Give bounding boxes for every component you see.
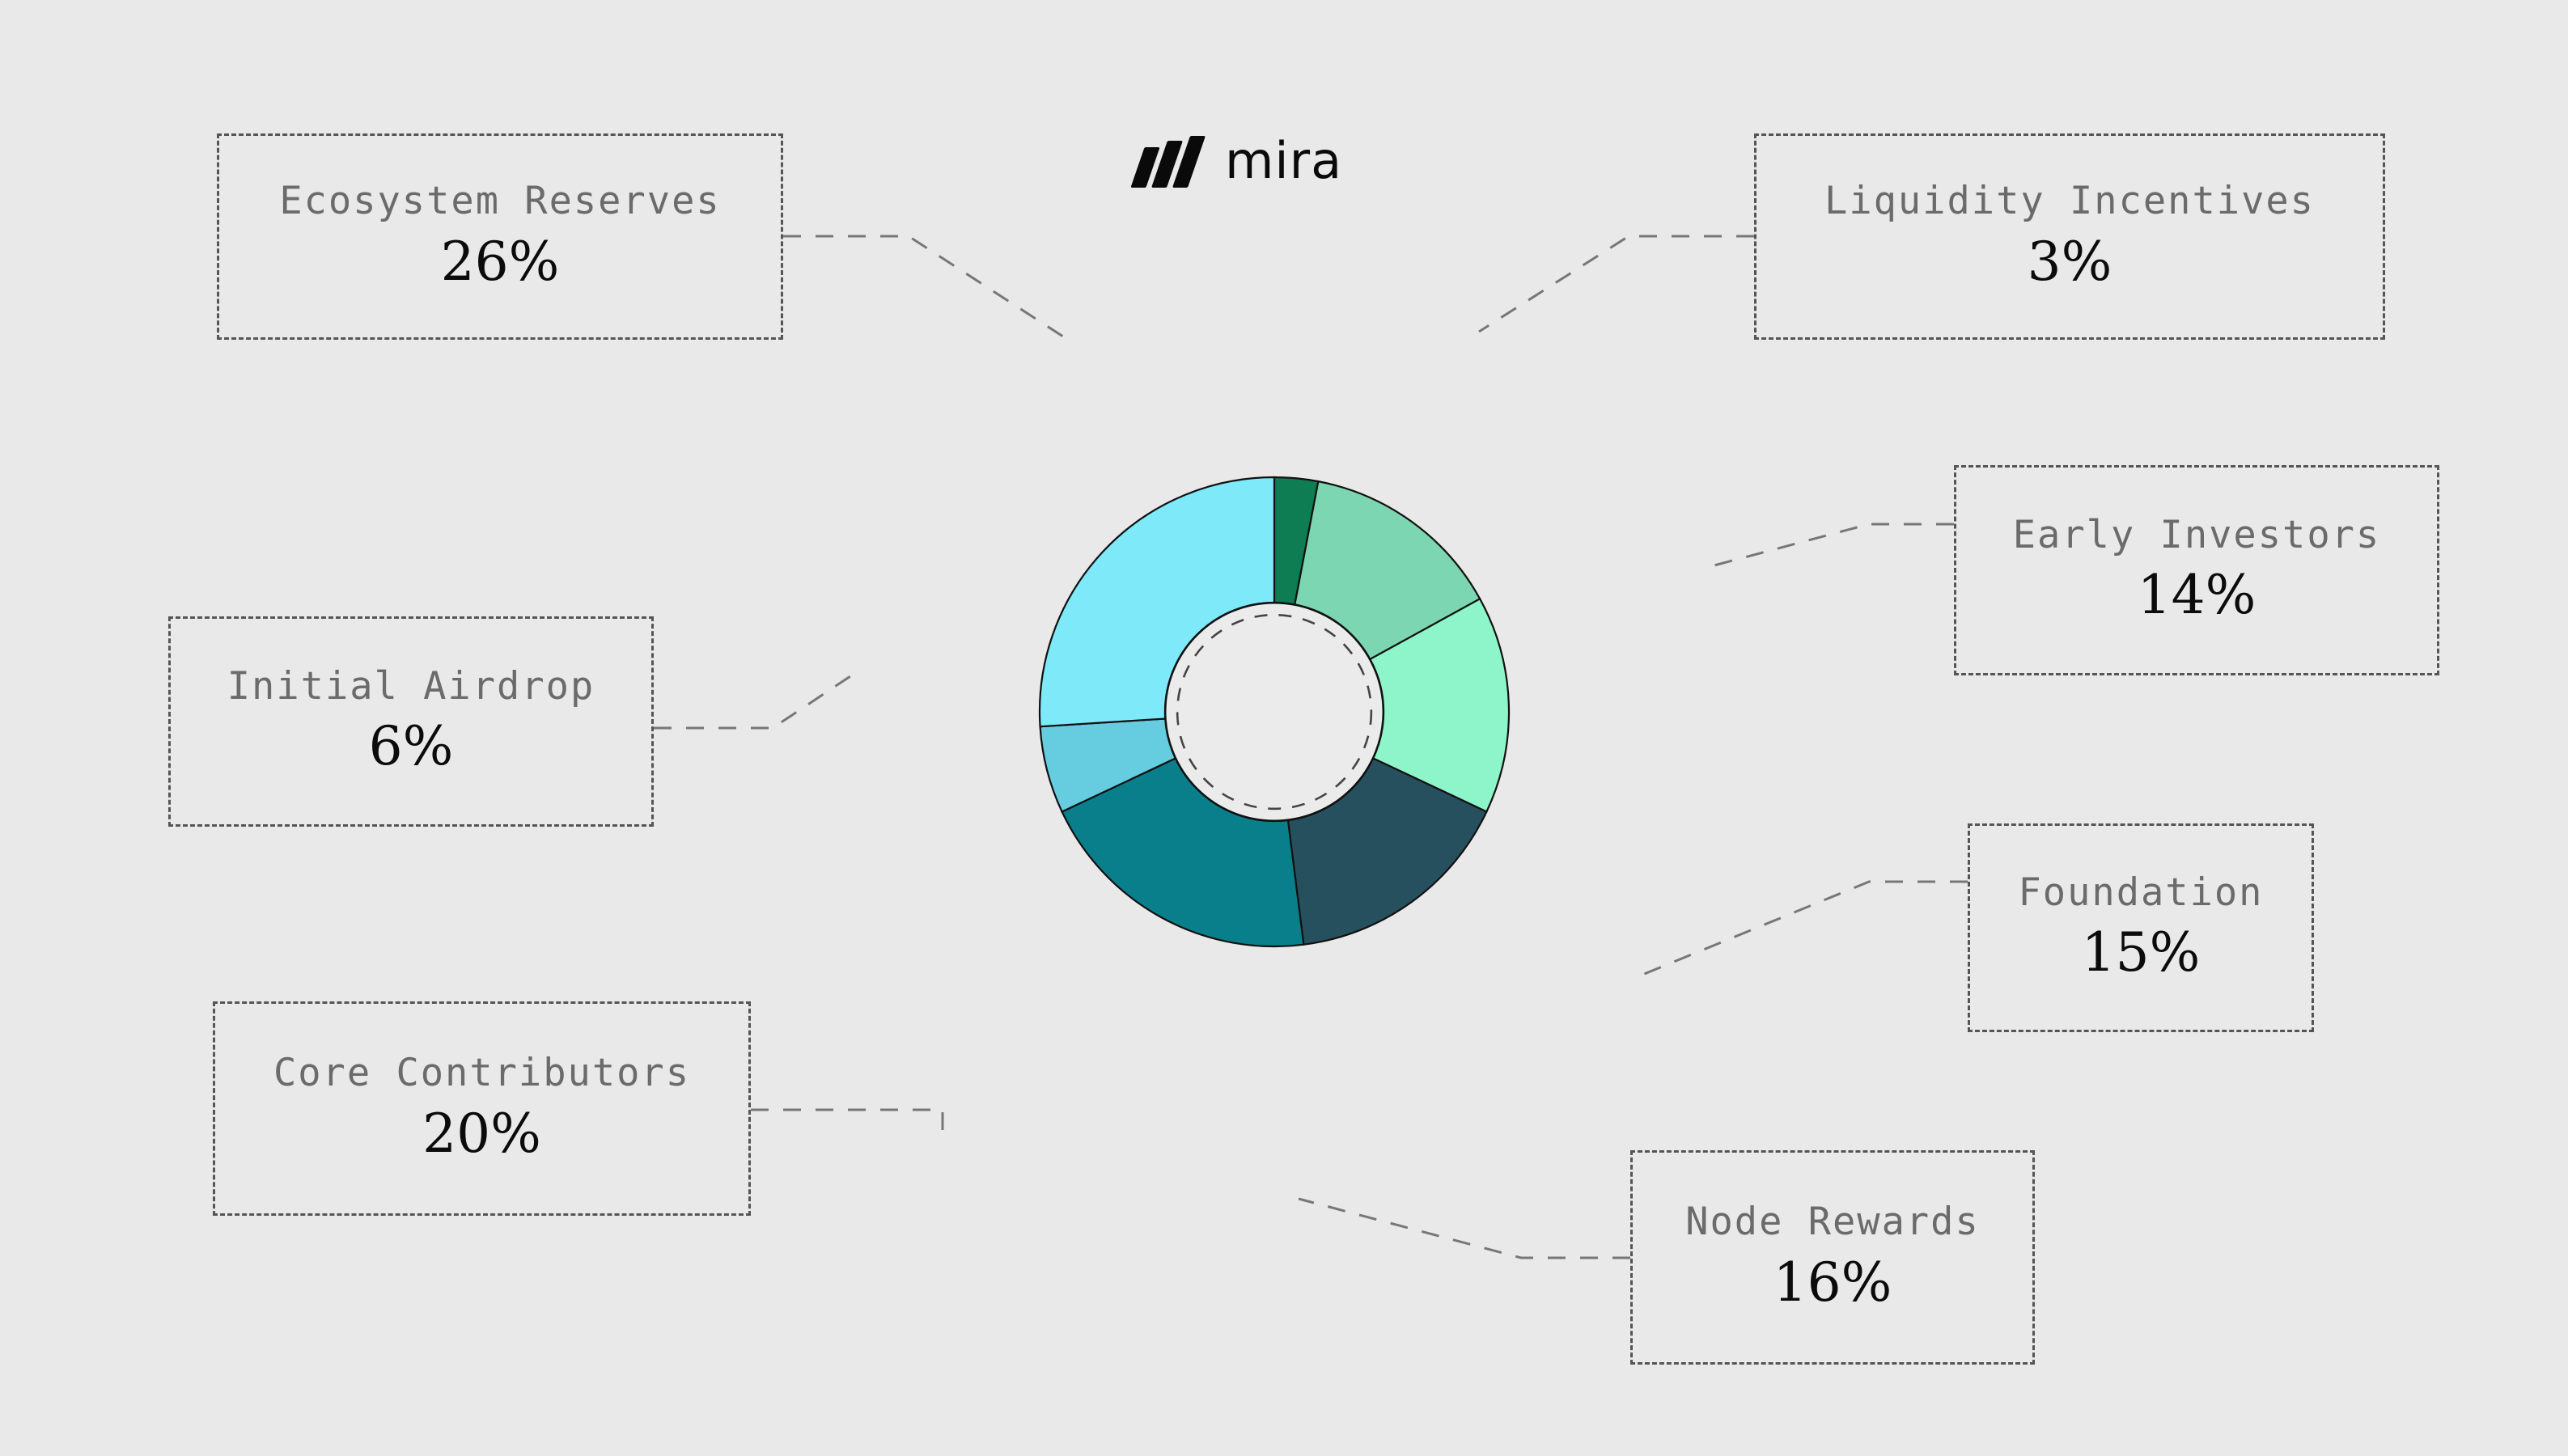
- segment-label-name: Initial Airdrop: [227, 666, 595, 709]
- segment-label-name: Liquidity Incentives: [1824, 180, 2315, 223]
- segment-label-core-contributors[interactable]: Core Contributors20%: [213, 1001, 751, 1216]
- segment-label-name: Ecosystem Reserves: [279, 180, 720, 223]
- segment-label-ecosystem-reserves[interactable]: Ecosystem Reserves26%: [217, 133, 783, 340]
- connector-liquidity-incentives: [1479, 236, 1754, 332]
- segment-label-percent: 14%: [2138, 565, 2257, 626]
- connector-ecosystem-reserves: [783, 236, 1068, 340]
- segment-label-node-rewards[interactable]: Node Rewards16%: [1630, 1150, 2035, 1365]
- connector-early-investors: [1711, 524, 1954, 566]
- segment-label-early-investors[interactable]: Early Investors14%: [1954, 465, 2439, 675]
- segment-label-name: Early Investors: [2013, 514, 2380, 557]
- connector-foundation: [1642, 882, 1968, 975]
- brand-logo: mira: [1136, 136, 1342, 189]
- segment-label-initial-airdrop[interactable]: Initial Airdrop6%: [168, 616, 654, 827]
- segment-label-percent: 20%: [422, 1103, 541, 1165]
- segment-label-percent: 3%: [2028, 231, 2112, 293]
- segment-label-percent: 16%: [1773, 1252, 1892, 1314]
- segment-label-foundation[interactable]: Foundation15%: [1968, 823, 2314, 1032]
- chart-canvas: mira Ecosystem Reserves26%Liquidity Ince…: [0, 0, 2568, 1456]
- connector-node-rewards: [1299, 1199, 1630, 1258]
- segment-label-name: Foundation: [2019, 872, 2264, 915]
- segment-label-name: Core Contributors: [273, 1052, 690, 1095]
- donut-chart: [1007, 445, 1541, 979]
- segment-label-percent: 26%: [441, 231, 560, 293]
- connector-core-contributors: [751, 1110, 943, 1142]
- mira-logo-icon: [1136, 136, 1207, 189]
- segment-label-percent: 15%: [2082, 922, 2201, 984]
- donut-svg: [1007, 445, 1541, 979]
- connector-initial-airdrop: [654, 671, 858, 728]
- brand-wordmark: mira: [1225, 136, 1342, 189]
- segment-label-percent: 6%: [369, 716, 454, 777]
- donut-center-hole: [1165, 603, 1384, 821]
- segment-label-liquidity-incentives[interactable]: Liquidity Incentives3%: [1754, 133, 2385, 340]
- segment-label-name: Node Rewards: [1685, 1201, 1980, 1244]
